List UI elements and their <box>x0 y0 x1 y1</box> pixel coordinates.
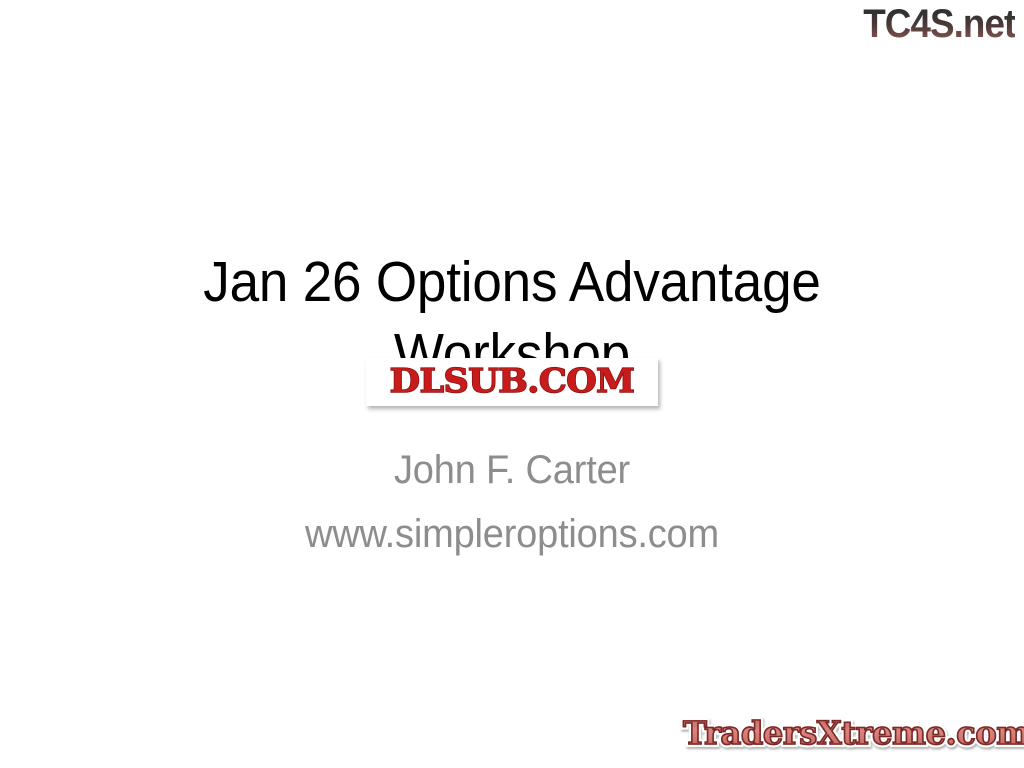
slide-title-line-1: Jan 26 Options Advantage <box>140 246 884 318</box>
presentation-slide: TC4S.net Jan 26 Options Advantage Worksh… <box>0 0 1024 768</box>
slide-subtitle: John F. Carter www.simpleroptions.com <box>112 438 912 566</box>
tc4s-net-watermark: TC4S.net <box>863 2 1015 46</box>
tradersxtreme-label: TradersXtreme.com <box>683 712 1024 754</box>
presenter-name: John F. Carter <box>132 438 892 502</box>
dlsub-watermark-label: DLSUB.COM <box>357 362 667 400</box>
tradersxtreme-com-watermark: TradersXtreme.com TradersXtreme.com <box>683 712 1005 760</box>
presenter-website: www.simpleroptions.com <box>132 502 892 566</box>
dlsub-com-watermark: DLSUB.COM <box>366 358 658 406</box>
